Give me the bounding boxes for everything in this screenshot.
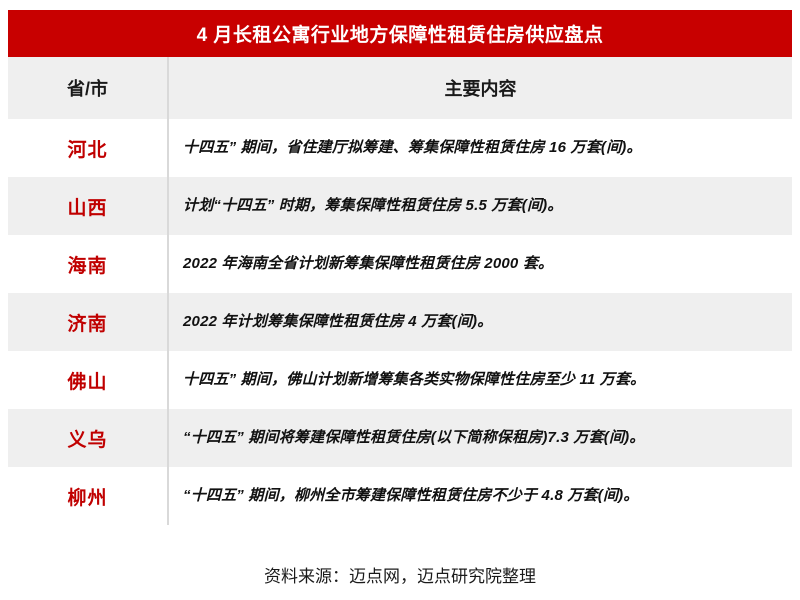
cell-content: 2022 年计划筹集保障性租赁住房 4 万套(间)。 xyxy=(167,293,792,351)
cell-content-text: 十四五” 期间，佛山计划新增筹集各类实物保障性住房至少 11 万套。 xyxy=(183,370,645,390)
cell-content-text: 十四五” 期间，省住建厅拟筹建、筹集保障性租赁住房 16 万套(间)。 xyxy=(183,138,642,158)
cell-content: 十四五” 期间，佛山计划新增筹集各类实物保障性住房至少 11 万套。 xyxy=(167,351,792,409)
table-row: 河北 十四五” 期间，省住建厅拟筹建、筹集保障性租赁住房 16 万套(间)。 xyxy=(8,119,792,177)
column-header-content: 主要内容 xyxy=(167,57,792,119)
table-row: 义乌 “十四五” 期间将筹建保障性租赁住房(以下简称保租房)7.3 万套(间)。 xyxy=(8,409,792,467)
cell-content-text: 2022 年海南全省计划新筹集保障性租赁住房 2000 套。 xyxy=(183,254,553,274)
cell-content-text: 计划“十四五” 时期，筹集保障性租赁住房 5.5 万套(间)。 xyxy=(183,196,563,216)
cell-province: 济南 xyxy=(8,293,167,351)
page-title: 4 月长租公寓行业地方保障性租赁住房供应盘点 xyxy=(197,20,604,47)
cell-content: “十四五” 期间将筹建保障性租赁住房(以下简称保租房)7.3 万套(间)。 xyxy=(167,409,792,467)
cell-content: 十四五” 期间，省住建厅拟筹建、筹集保障性租赁住房 16 万套(间)。 xyxy=(167,119,792,177)
source-note: 资料来源：迈点网，迈点研究院整理 xyxy=(0,562,800,587)
cell-province: 山西 xyxy=(8,177,167,235)
table-row: 佛山 十四五” 期间，佛山计划新增筹集各类实物保障性住房至少 11 万套。 xyxy=(8,351,792,409)
table-row: 海南 2022 年海南全省计划新筹集保障性租赁住房 2000 套。 xyxy=(8,235,792,293)
table-body: 河北 十四五” 期间，省住建厅拟筹建、筹集保障性租赁住房 16 万套(间)。 山… xyxy=(8,119,792,525)
cell-province: 佛山 xyxy=(8,351,167,409)
cell-province: 海南 xyxy=(8,235,167,293)
cell-content: 计划“十四五” 时期，筹集保障性租赁住房 5.5 万套(间)。 xyxy=(167,177,792,235)
cell-content: 2022 年海南全省计划新筹集保障性租赁住房 2000 套。 xyxy=(167,235,792,293)
cell-content-text: 2022 年计划筹集保障性租赁住房 4 万套(间)。 xyxy=(183,312,492,332)
supply-table: 4 月长租公寓行业地方保障性租赁住房供应盘点 省/市 主要内容 河北 十四五” … xyxy=(8,10,792,525)
cell-province: 河北 xyxy=(8,119,167,177)
table-row: 山西 计划“十四五” 时期，筹集保障性租赁住房 5.5 万套(间)。 xyxy=(8,177,792,235)
cell-content-text: “十四五” 期间将筹建保障性租赁住房(以下简称保租房)7.3 万套(间)。 xyxy=(183,428,645,448)
table-header-row: 省/市 主要内容 xyxy=(8,57,792,119)
table-infographic: 迈点研究院 迈点研究院 4 月长租公寓行业地方保障性租赁住房供应盘点 省/市 主… xyxy=(0,0,800,600)
cell-content-text: “十四五” 期间，柳州全市筹建保障性租赁住房不少于 4.8 万套(间)。 xyxy=(183,486,639,506)
cell-province: 柳州 xyxy=(8,467,167,525)
cell-content: “十四五” 期间，柳州全市筹建保障性租赁住房不少于 4.8 万套(间)。 xyxy=(167,467,792,525)
column-header-province: 省/市 xyxy=(8,57,167,119)
cell-province: 义乌 xyxy=(8,409,167,467)
table-row: 柳州 “十四五” 期间，柳州全市筹建保障性租赁住房不少于 4.8 万套(间)。 xyxy=(8,467,792,525)
table-row: 济南 2022 年计划筹集保障性租赁住房 4 万套(间)。 xyxy=(8,293,792,351)
table-title-bar: 4 月长租公寓行业地方保障性租赁住房供应盘点 xyxy=(8,10,792,57)
